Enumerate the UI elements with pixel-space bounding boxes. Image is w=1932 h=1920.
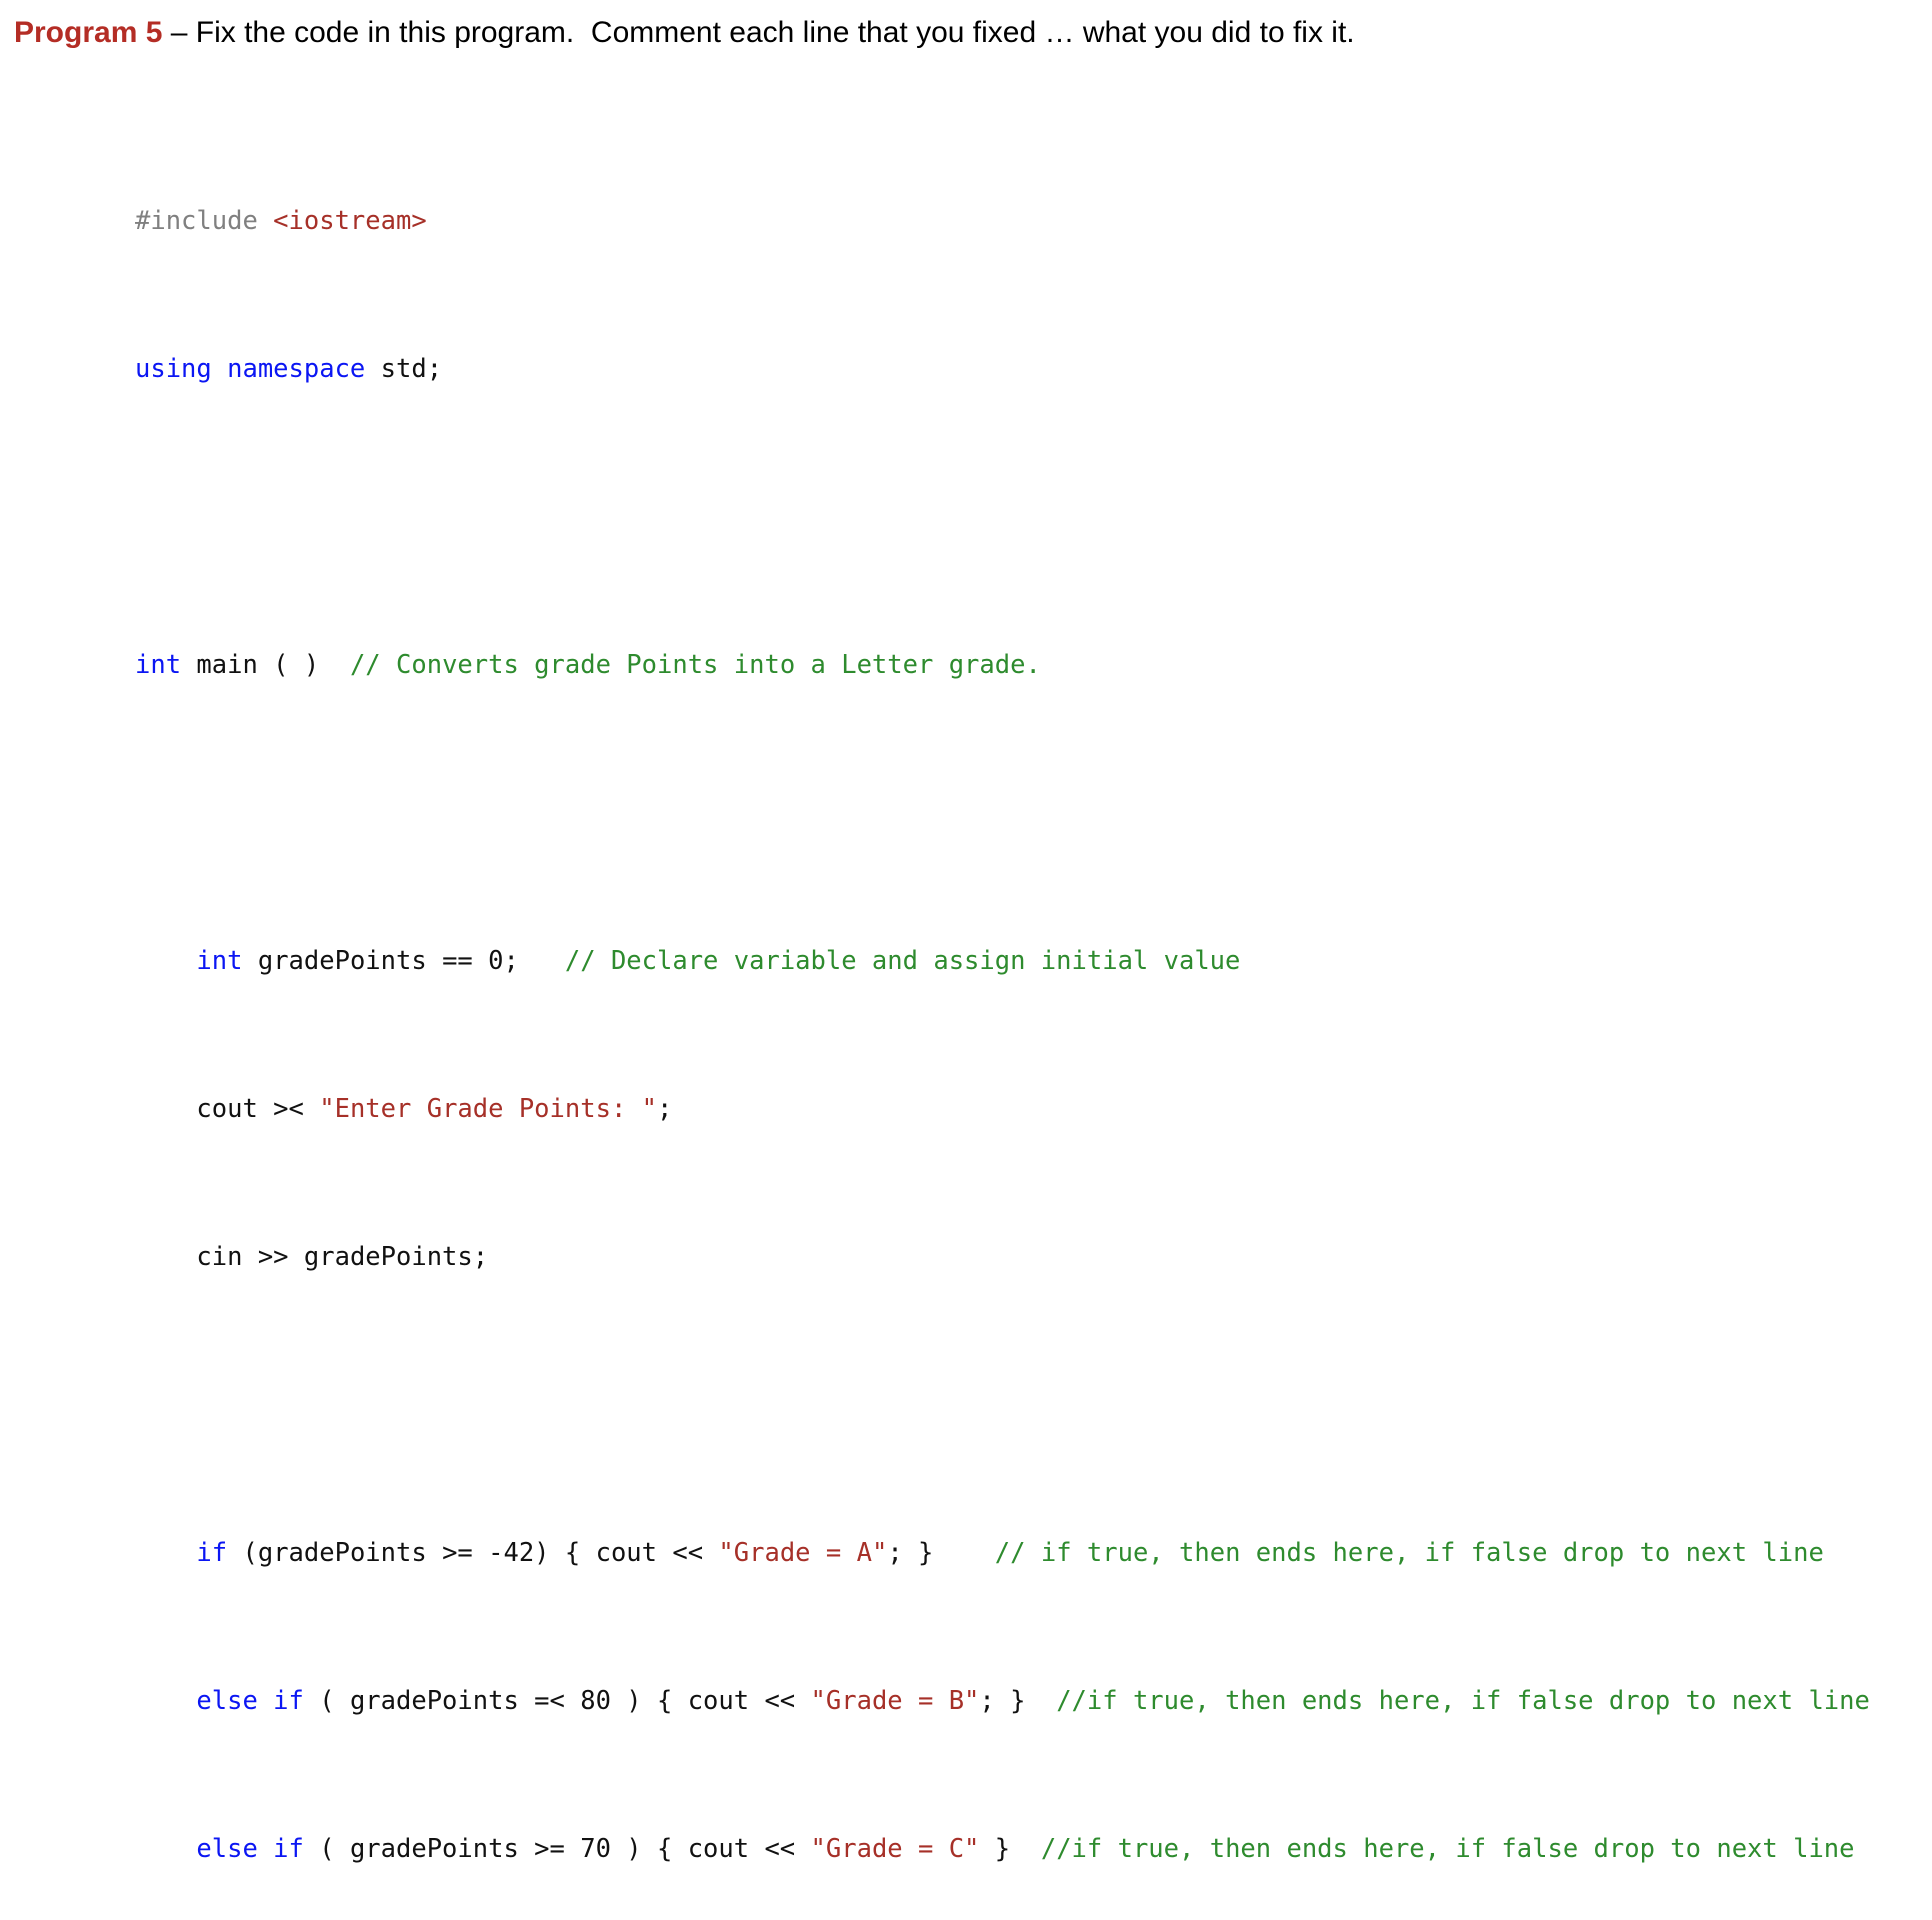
keyword-int: int bbox=[135, 650, 181, 680]
elseif-block-close-c: } bbox=[979, 1834, 1040, 1864]
comment-if-true-b: //if true, then ends here, if false drop… bbox=[1056, 1686, 1870, 1716]
keyword-using-namespace: using namespace bbox=[135, 354, 365, 384]
code-line-elseif-grade-b: else if ( gradePoints =< 80 ) { cout << … bbox=[0, 1683, 1902, 1720]
code-blank-line bbox=[135, 499, 1902, 536]
string-grade-b: "Grade = B" bbox=[811, 1686, 980, 1716]
elseif-condition-c: ( gradePoints >= 70 ) { cout << bbox=[304, 1834, 811, 1864]
document-page: Program 5 – Fix the code in this program… bbox=[0, 0, 1932, 960]
code-line-using-namespace: using namespace std; bbox=[0, 351, 1902, 388]
elseif-condition-b: ( gradePoints =< 80 ) { cout << bbox=[304, 1686, 811, 1716]
code-blank-line bbox=[135, 1387, 1902, 1424]
comment-declare-variable: // Declare variable and assign initial v… bbox=[565, 946, 1241, 976]
gradepoints-declaration: gradePoints == 0; bbox=[242, 946, 564, 976]
string-grade-c: "Grade = C" bbox=[811, 1834, 980, 1864]
preprocessor-directive: #include bbox=[135, 206, 273, 236]
cin-statement: cin >> gradePoints; bbox=[196, 1242, 488, 1272]
keyword-if: if bbox=[196, 1538, 227, 1568]
elseif-block-close-b: ; } bbox=[979, 1686, 1056, 1716]
code-line-if-grade-a: if (gradePoints >= -42) { cout << "Grade… bbox=[0, 1535, 1902, 1572]
if-condition-a: (gradePoints >= -42) { cout << bbox=[227, 1538, 718, 1568]
code-line-include: #include <iostream> bbox=[0, 203, 1902, 240]
code-line-declare-gradepoints: int gradePoints == 0; // Declare variabl… bbox=[0, 943, 1902, 980]
keyword-int: int bbox=[196, 946, 242, 976]
cout-operator: cout >< bbox=[196, 1094, 319, 1124]
string-grade-a: "Grade = A" bbox=[718, 1538, 887, 1568]
if-block-close-a: ; } bbox=[887, 1538, 994, 1568]
page-title-instruction: – Fix the code in this program. Comment … bbox=[162, 16, 1354, 49]
keyword-else-if: else if bbox=[196, 1834, 303, 1864]
page-title: Program 5 – Fix the code in this program… bbox=[0, 0, 1932, 52]
main-signature: main ( ) bbox=[181, 650, 350, 680]
code-blank-line bbox=[135, 795, 1902, 832]
code-line-elseif-grade-c: else if ( gradePoints >= 70 ) { cout << … bbox=[0, 1831, 1902, 1868]
code-line-cin: cin >> gradePoints; bbox=[0, 1239, 1902, 1276]
code-line-main: int main ( ) // Converts grade Points in… bbox=[0, 647, 1902, 684]
comment-converts-grade-points: // Converts grade Points into a Letter g… bbox=[350, 650, 1041, 680]
include-header: <iostream> bbox=[273, 206, 427, 236]
code-line-cout-prompt: cout >< "Enter Grade Points: "; bbox=[0, 1091, 1902, 1128]
comment-if-true-c: //if true, then ends here, if false drop… bbox=[1041, 1834, 1855, 1864]
string-enter-grade-points: "Enter Grade Points: " bbox=[319, 1094, 657, 1124]
program-label: Program 5 bbox=[14, 16, 162, 49]
code-listing: #include <iostream> using namespace std;… bbox=[0, 52, 1932, 1920]
comment-if-true-a: // if true, then ends here, if false dro… bbox=[995, 1538, 1824, 1568]
keyword-else-if: else if bbox=[196, 1686, 303, 1716]
statement-terminator: ; bbox=[657, 1094, 672, 1124]
namespace-std: std; bbox=[365, 354, 442, 384]
